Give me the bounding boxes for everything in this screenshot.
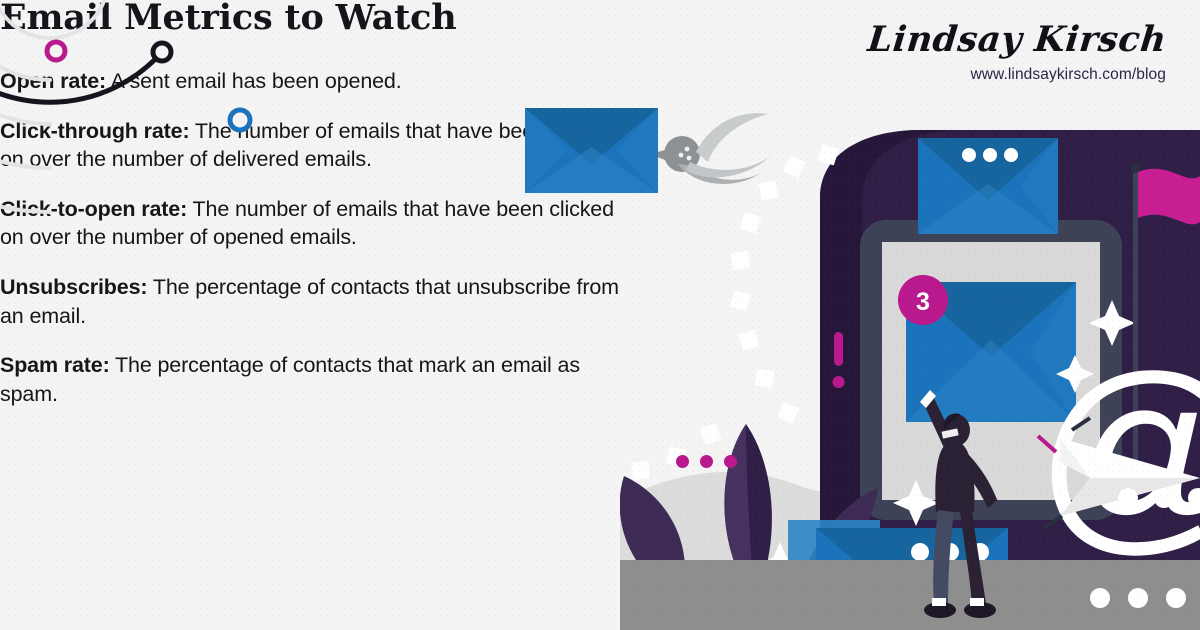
envelope-icon (525, 108, 658, 193)
brand-logo: Lindsay Kirsch www.lindsaykirsch.com/blo… (868, 22, 1166, 84)
dove-carrying-envelope (500, 92, 790, 212)
ground-dots (1090, 588, 1186, 608)
magenta-dot-row (676, 455, 737, 468)
metric-term: Spam rate: (0, 353, 110, 377)
at-sign: @ (1035, 331, 1200, 572)
brand-name: Lindsay Kirsch (866, 22, 1168, 57)
brand-url: www.lindsaykirsch.com/blog (868, 66, 1166, 84)
infographic-canvas: Lindsay Kirsch www.lindsaykirsch.com/blo… (0, 0, 1200, 630)
arc-endpoint-dots (0, 0, 328, 258)
businessman-figure (900, 382, 1020, 630)
svg-text:@: @ (1035, 331, 1200, 572)
exclamation-mark (833, 332, 845, 388)
metric-item: Unsubscribes: The percentage of contacts… (0, 273, 640, 330)
dove-icon (650, 113, 772, 184)
mailbox-top-envelope (918, 138, 1058, 234)
metric-item: Spam rate: The percentage of contacts th… (0, 351, 640, 408)
badge-count: 3 (916, 288, 930, 316)
metric-term: Unsubscribes: (0, 275, 147, 299)
